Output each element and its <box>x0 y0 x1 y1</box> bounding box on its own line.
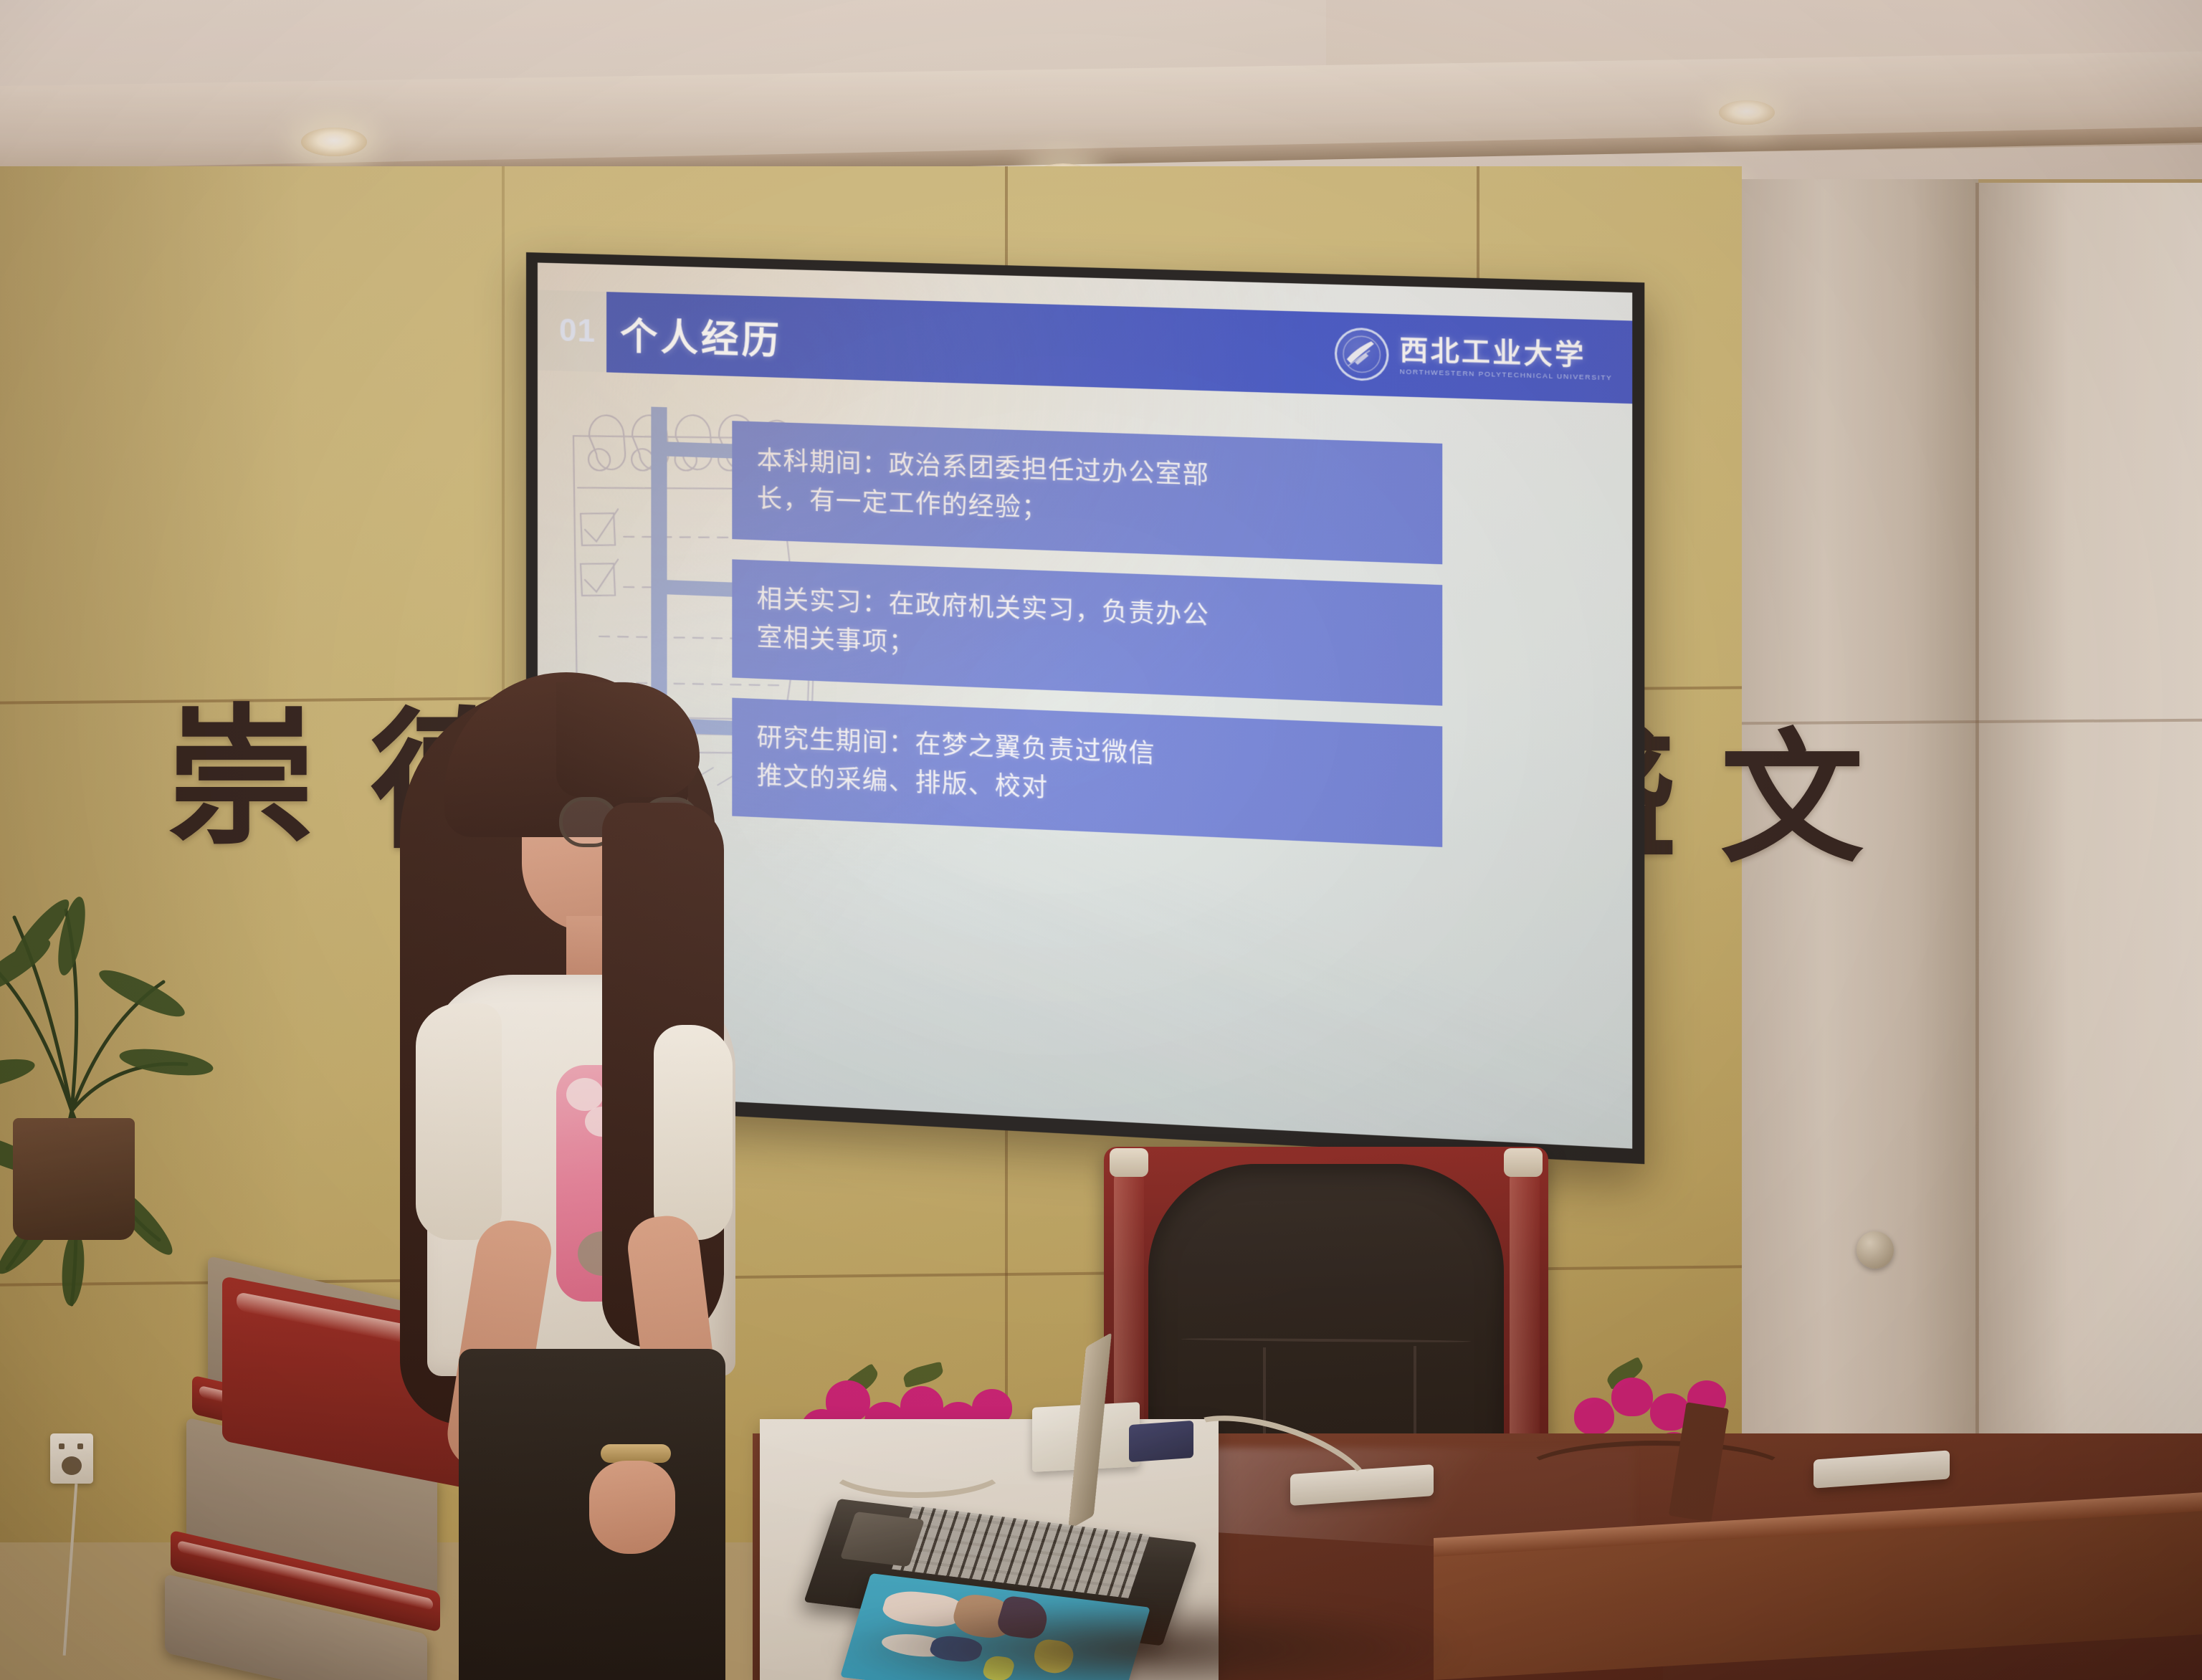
experience-box-undergrad: 本科期间：政治系团委担任过办公室部 长，有一定工作的经验； <box>732 421 1442 565</box>
flower-petal <box>1574 1398 1614 1435</box>
outlet-slot <box>77 1443 83 1449</box>
ceiling-downlight <box>301 128 367 156</box>
chair-top-cap <box>1504 1148 1543 1177</box>
plant-pot <box>13 1118 135 1240</box>
wall-pillar-face <box>1978 183 2202 1541</box>
timeline-branch <box>651 579 735 596</box>
slide-section-number: 01 <box>559 312 596 350</box>
shirt-graphic-blob <box>566 1078 604 1111</box>
university-name-cn: 西北工业大学 <box>1400 335 1613 370</box>
presenter-sleeve-right <box>654 1025 733 1240</box>
ceiling-downlight <box>1719 100 1775 125</box>
timeline-branch <box>651 442 735 459</box>
nwpu-aircraft-emblem-icon <box>1335 327 1389 381</box>
slide-title: 个人经历 <box>620 305 782 364</box>
experience-box-graduate: 研究生期间：在梦之翼负责过微信 推文的采编、排版、校对 <box>732 698 1442 848</box>
pillar-grout-line <box>1975 183 1979 1541</box>
outlet-socket <box>62 1456 82 1475</box>
wall-calligraphy-char: 文 <box>1720 727 1864 871</box>
presenter-hair-fringe <box>556 682 700 797</box>
chair-top-cap <box>1110 1148 1148 1177</box>
wall-hook <box>1857 1231 1894 1269</box>
presenter-sleeve-left <box>416 1003 502 1240</box>
outlet-slot <box>59 1443 65 1449</box>
wall-power-outlet <box>50 1433 93 1484</box>
university-logo-text: 西北工业大学 NORTHWESTERN POLYTECHNICAL UNIVER… <box>1400 335 1613 382</box>
flower-petal <box>1611 1378 1653 1416</box>
laptop-screen-lid[interactable] <box>1068 1332 1112 1530</box>
desk-cable <box>1520 1441 1792 1505</box>
foreground-blur <box>824 1598 1469 1680</box>
university-logo: 西北工业大学 NORTHWESTERN POLYTECHNICAL UNIVER… <box>1335 327 1612 388</box>
slide-header-band: 01 个人经历 西北工业大学 NORTHWESTERN POLYTECHNI <box>538 290 1632 404</box>
conference-room-photo: 崇 德 盛 文 01 个人经历 <box>0 0 2202 1680</box>
presenter-clasped-hands <box>589 1461 675 1554</box>
presenter <box>387 667 760 1680</box>
